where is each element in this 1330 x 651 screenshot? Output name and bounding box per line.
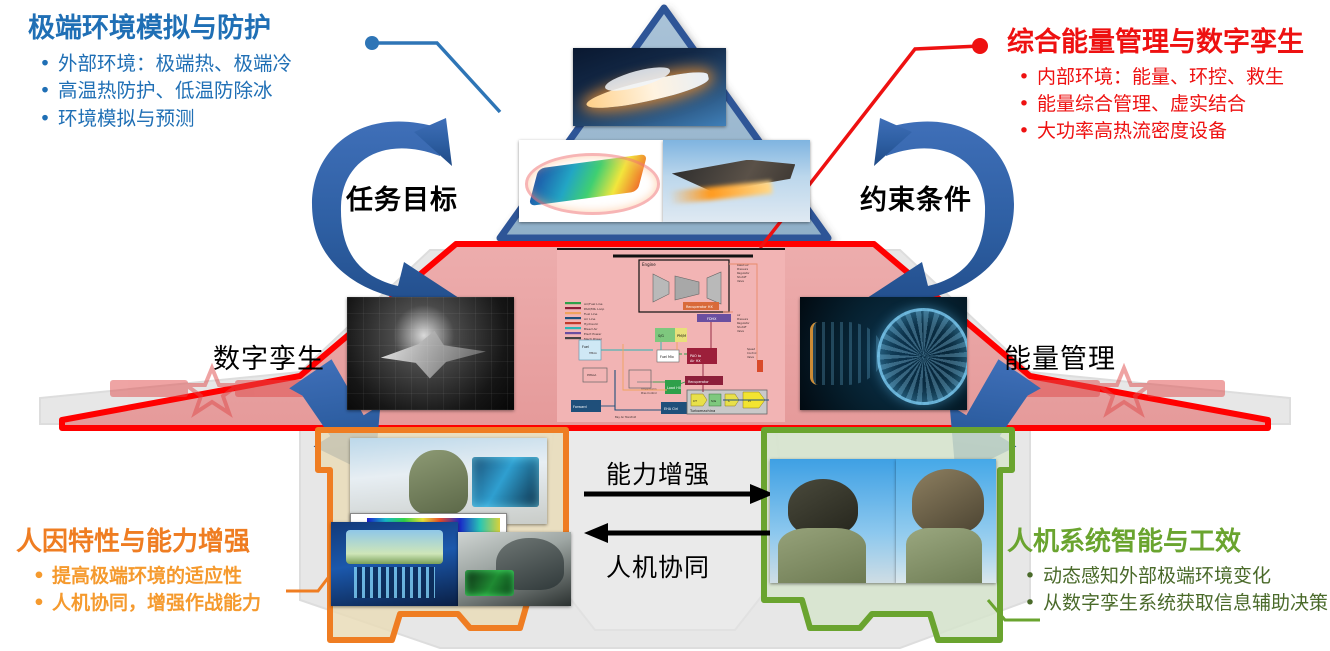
bullet-icon xyxy=(1017,590,1043,617)
svg-text:PAO/MIL Loop: PAO/MIL Loop xyxy=(584,307,604,311)
callout-bullet-list: 提高极端环境的适应性 人机协同，增强作战能力 xyxy=(26,563,261,617)
svg-text:Air HX: Air HX xyxy=(690,359,701,363)
callout-heading: 综合能量管理与数字孪生 xyxy=(1007,28,1304,58)
svg-text:Regulator: Regulator xyxy=(737,321,750,325)
cooperation-arrow-left xyxy=(584,523,774,543)
svg-text:HMAA: HMAA xyxy=(589,351,597,355)
svg-text:Bay Air Manifold: Bay Air Manifold xyxy=(615,415,637,419)
svg-text:Hydraulic: Hydraulic xyxy=(584,322,599,326)
list-item: 从数字孪生系统获取信息辅助决策 xyxy=(1017,590,1328,617)
list-item: 能量综合管理、虚实结合 xyxy=(1011,91,1304,118)
list-item: 人机协同，增强作战能力 xyxy=(26,590,261,617)
diagram-canvas: Air/Fuel Line PAO/MIL Loop Fuel Line Air… xyxy=(0,0,1330,651)
photo-cockpit-hud: 座舱综合显示 xyxy=(350,438,547,524)
svg-text:S/G: S/G xyxy=(711,399,717,403)
callout-human-machine-intelligence: 人机系统智能与工效 动态感知外部极端环境变化 从数字孪生系统获取信息辅助决策 xyxy=(1007,528,1328,617)
svg-text:Control: Control xyxy=(747,351,757,355)
photo-flight-simulator: 飞行模拟器座舱 xyxy=(331,522,458,606)
svg-text:Regulator: Regulator xyxy=(737,271,750,275)
svg-text:S/G: S/G xyxy=(658,334,664,338)
list-item: 动态感知外部极端环境变化 xyxy=(1017,563,1328,590)
photo-cfd-wing: 气动热仿真云图 xyxy=(519,140,663,222)
photo-stealth-fighter-cad: 战斗机数字模型 xyxy=(347,297,514,410)
label-mission-goal: 任务目标 xyxy=(346,178,458,217)
svg-text:Pres Control: Pres Control xyxy=(641,391,657,395)
svg-text:PAO to: PAO to xyxy=(690,354,701,358)
svg-text:Shutoff: Shutoff xyxy=(737,275,747,279)
svg-text:PMAGA: PMAGA xyxy=(587,373,597,377)
bullet-icon xyxy=(1011,64,1037,91)
callout-bullet-list: 动态感知外部极端环境变化 从数字孪生系统获取信息辅助决策 xyxy=(1017,563,1328,617)
callout-energy-digital-twin: 综合能量管理与数字孪生 内部环境：能量、环控、救生 能量综合管理、虚实结合 大功… xyxy=(1007,28,1304,145)
callout-heading: 人机系统智能与工效 xyxy=(1007,528,1328,557)
svg-text:Valve: Valve xyxy=(737,279,744,283)
svg-text:FDHX: FDHX xyxy=(707,317,717,321)
list-item: 大功率高热流密度设备 xyxy=(1011,118,1304,145)
label-constraint: 约束条件 xyxy=(860,178,972,217)
label-energy-management: 能量管理 xyxy=(1004,337,1116,376)
svg-text:Air Line: Air Line xyxy=(584,317,595,321)
svg-text:Forward: Forward xyxy=(573,405,587,409)
svg-text:PM/M: PM/M xyxy=(677,334,686,338)
svg-text:Fuel Line: Fuel Line xyxy=(584,312,598,316)
bullet-icon xyxy=(32,105,58,133)
bullet-icon xyxy=(32,77,58,105)
list-item: 提高极端环境的适应性 xyxy=(26,563,261,590)
label-human-machine-cooperation: 人机协同 xyxy=(606,548,710,584)
photo-pilot-helmet-right: 飞行员氧气面罩 xyxy=(896,459,996,583)
svg-text:Air/Fuel Line: Air/Fuel Line xyxy=(584,302,603,306)
svg-text:Fuel Mix: Fuel Mix xyxy=(660,355,674,359)
svg-text:Shutoff: Shutoff xyxy=(737,325,747,329)
svg-text:Recuperator HX: Recuperator HX xyxy=(686,305,713,309)
svg-text:Recuperator: Recuperator xyxy=(688,380,709,384)
callout-heading: 极端环境模拟与防护 xyxy=(28,14,292,44)
callout-bullet-list: 外部环境：极端热、极端冷 高温热防护、低温防除冰 环境模拟与预测 xyxy=(32,50,292,133)
callout-bullet-list: 内部环境：能量、环控、救生 能量综合管理、虚实结合 大功率高热流密度设备 xyxy=(1011,64,1304,145)
bullet-icon xyxy=(26,590,52,617)
svg-text:Pressure: Pressure xyxy=(737,267,748,271)
list-item: 环境模拟与预测 xyxy=(32,105,292,133)
svg-text:Pressure: Pressure xyxy=(737,317,748,321)
svg-text:Fuel: Fuel xyxy=(582,345,589,349)
bullet-icon xyxy=(26,563,52,590)
svg-text:Turbomachina: Turbomachina xyxy=(689,409,715,413)
label-capability-enhancement: 能力增强 xyxy=(606,455,710,491)
bullet-icon xyxy=(32,50,58,78)
photo-hypersonic-glider: 高超声速飞行器 xyxy=(663,140,810,222)
bullet-icon xyxy=(1017,563,1043,590)
svg-text:Engine: Engine xyxy=(642,262,656,267)
svg-text:Load HX: Load HX xyxy=(667,386,682,390)
bullet-icon xyxy=(1011,118,1037,145)
svg-text:Speed: Speed xyxy=(747,347,755,351)
svg-text:Valve: Valve xyxy=(747,355,754,359)
photo-pilot-helmet-left: 飞行员头盔 xyxy=(770,459,896,583)
svg-text:Valve: Valve xyxy=(737,329,744,333)
svg-text:CT: CT xyxy=(693,399,697,403)
list-item: 外部环境：极端热、极端冷 xyxy=(32,50,292,78)
svg-text:EHA Ctrl: EHA Ctrl xyxy=(664,407,678,411)
leader-line-bottom-left xyxy=(286,570,334,591)
bullet-icon xyxy=(1011,91,1037,118)
photo-hmd-cockpit: 头盔显示座舱 xyxy=(458,532,571,606)
callout-human-factors: 人因特性与能力增强 提高极端环境的适应性 人机协同，增强作战能力 xyxy=(16,528,261,617)
label-digital-twin: 数字孪生 xyxy=(213,337,325,376)
photo-turbine-engine: 涡轮发动机 xyxy=(800,297,967,410)
list-item: 内部环境：能量、环控、救生 xyxy=(1011,64,1304,91)
svg-text:Bleed Air: Bleed Air xyxy=(584,327,598,331)
list-item: 高温热防护、低温防除冰 xyxy=(32,77,292,105)
energy-system-schematic: Air/Fuel Line PAO/MIL Loop Fuel Line Air… xyxy=(557,248,785,422)
leader-line-top-left xyxy=(365,36,500,112)
callout-heading: 人因特性与能力增强 xyxy=(16,528,261,557)
svg-text:Elect Power: Elect Power xyxy=(584,332,602,336)
callout-extreme-environment: 极端环境模拟与防护 外部环境：极端热、极端冷 高温热防护、低温防除冰 环境模拟与… xyxy=(28,14,292,133)
photo-shuttle-reentry: 航天飞机再入气动加热 xyxy=(573,48,726,126)
